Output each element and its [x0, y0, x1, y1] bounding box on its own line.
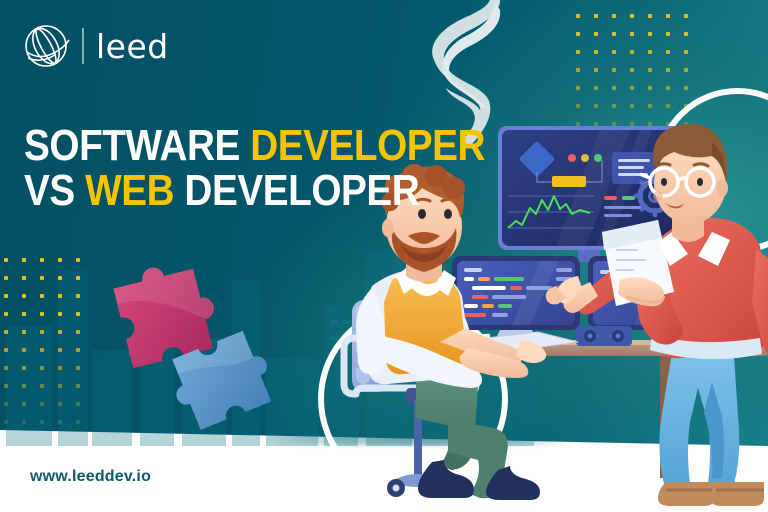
- desk-speaker: [576, 326, 632, 346]
- marketing-banner: leed SOFTWARE DEVELOPER VS WEB DEVELOPER…: [0, 0, 768, 512]
- page-title: SOFTWARE DEVELOPER VS WEB DEVELOPER: [24, 124, 402, 214]
- headline-vs: VS: [24, 166, 85, 215]
- brand-name: leed: [96, 30, 169, 63]
- developers-illustration: [0, 0, 768, 512]
- headline-line-2: VS WEB DEVELOPER: [24, 169, 402, 214]
- headline-web: WEB: [85, 166, 174, 215]
- brand-logo[interactable]: leed: [22, 22, 169, 70]
- globe-wireframe-icon: [22, 22, 70, 70]
- headline-developer-2: DEVELOPER: [174, 166, 419, 215]
- headline-developer-1: DEVELOPER: [250, 121, 485, 170]
- logo-divider: [82, 28, 84, 64]
- headline-software: SOFTWARE: [24, 121, 250, 170]
- footer-url[interactable]: www.leeddev.io: [30, 468, 151, 486]
- headline-line-1: SOFTWARE DEVELOPER: [24, 124, 402, 169]
